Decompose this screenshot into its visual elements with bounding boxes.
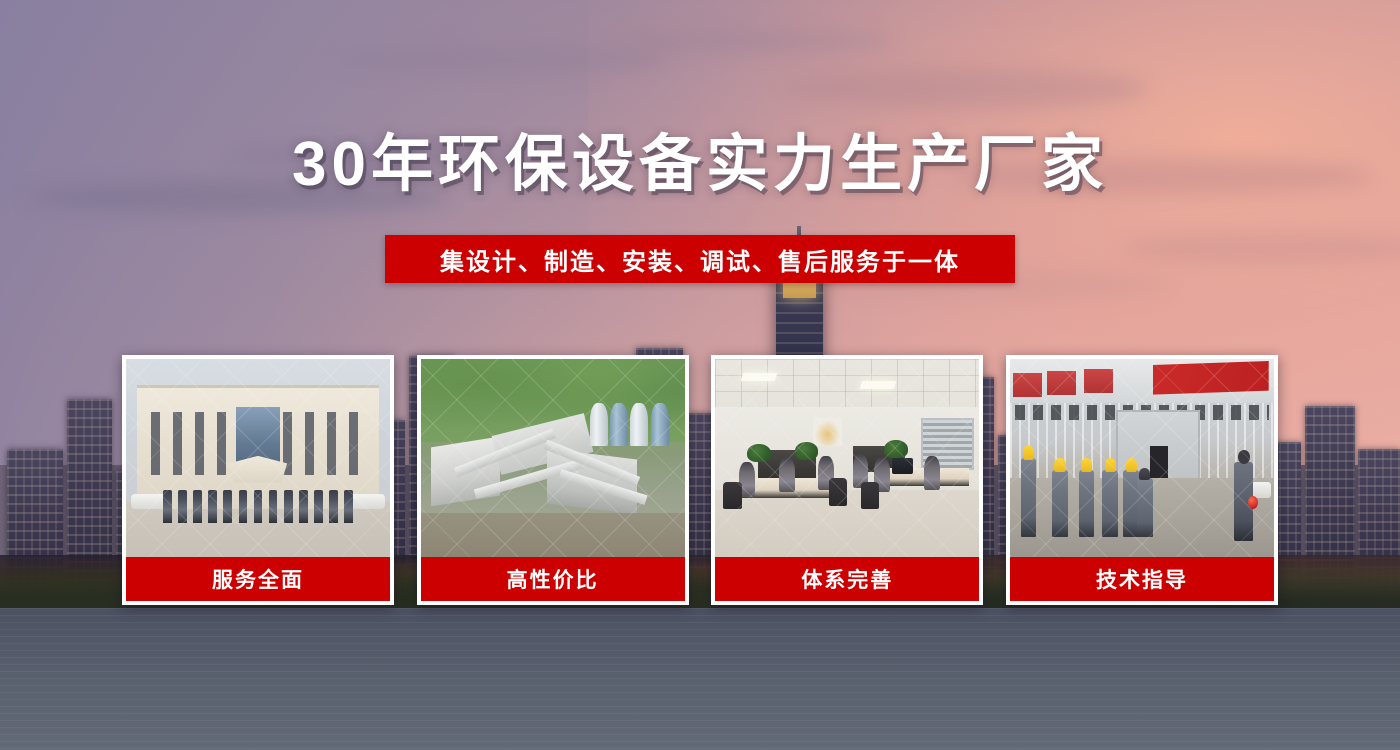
staff-person [329, 490, 338, 524]
office-chair [723, 482, 741, 510]
parked-car [350, 494, 384, 510]
wall-decal [813, 418, 842, 446]
worker-with-helmet [1137, 478, 1153, 537]
staff-person [284, 490, 293, 524]
feature-card-label: 技术指导 [1096, 564, 1188, 594]
staff-person [223, 490, 232, 524]
office-staff [779, 458, 795, 492]
office-interior-photo [715, 359, 979, 557]
feature-card-row: 服务全面 [122, 355, 1278, 605]
ceiling-light [740, 373, 777, 381]
feature-card-caption: 服务全面 [126, 557, 390, 601]
feature-card-label: 高性价比 [507, 564, 599, 594]
feature-card[interactable]: 高性价比 [417, 355, 689, 605]
feature-card[interactable]: 服务全面 [122, 355, 394, 605]
storage-silo [610, 403, 628, 447]
building-signage [175, 397, 262, 406]
staff-person [314, 490, 323, 524]
office-staff [924, 456, 940, 490]
river-water [0, 608, 1400, 750]
aerial-plant-photo [421, 359, 685, 557]
feature-card-caption: 体系完善 [715, 557, 979, 601]
factory-wall-slogan [1153, 361, 1269, 395]
worker-with-helmet [1102, 470, 1118, 537]
staff-person [178, 490, 187, 524]
cloud [784, 68, 1148, 109]
staff-person [269, 490, 278, 524]
potted-plant [884, 440, 908, 458]
storage-silo [651, 403, 669, 447]
facade-slogan-block [1013, 373, 1042, 397]
plant-yard [421, 513, 685, 557]
cloud [336, 45, 672, 75]
staff-person [163, 490, 172, 524]
feature-card[interactable]: 技术指导 [1006, 355, 1278, 605]
parked-car [131, 494, 165, 510]
worker-with-helmet [1052, 470, 1068, 537]
hero-banner: 30年环保设备实力生产厂家 集设计、制造、安装、调试、售后服务于一体 [0, 0, 1400, 750]
worker-with-helmet [1021, 458, 1037, 537]
page-title: 30年环保设备实力生产厂家 [0, 132, 1400, 197]
feature-card-caption: 技术指导 [1010, 557, 1274, 601]
cloud [616, 30, 896, 53]
factory-workers-photo [1010, 359, 1274, 557]
staff-person [344, 490, 353, 524]
subtitle-banner: 集设计、制造、安装、调试、售后服务于一体 [385, 235, 1015, 283]
feature-card-caption: 高性价比 [421, 557, 685, 601]
staff-person [208, 490, 217, 524]
staff-person [254, 490, 263, 524]
storage-silo-group [590, 403, 669, 447]
feature-card[interactable]: 体系完善 [711, 355, 983, 605]
staff-lineup [163, 490, 353, 524]
storage-silo [630, 403, 648, 447]
staff-person [239, 490, 248, 524]
staff-person [299, 490, 308, 524]
facade-slogan-block [1084, 369, 1113, 393]
office-floor [715, 490, 979, 557]
computer-monitor [892, 458, 913, 474]
potted-plant [795, 442, 819, 460]
company-headquarters-photo [126, 359, 390, 557]
feature-card-label: 体系完善 [801, 564, 893, 594]
office-chair [829, 478, 847, 506]
staff-person [193, 490, 202, 524]
subtitle-text: 集设计、制造、安装、调试、售后服务于一体 [440, 242, 960, 277]
factory-side-door [1150, 446, 1168, 482]
storage-silo [590, 403, 608, 447]
feature-card-label: 服务全面 [212, 564, 304, 594]
potted-plant [747, 444, 771, 462]
facade-slogan-block [1047, 371, 1076, 395]
ceiling-light [859, 381, 896, 389]
worker-with-helmet [1079, 470, 1095, 537]
office-ceiling [715, 359, 979, 410]
office-chair [861, 482, 879, 510]
